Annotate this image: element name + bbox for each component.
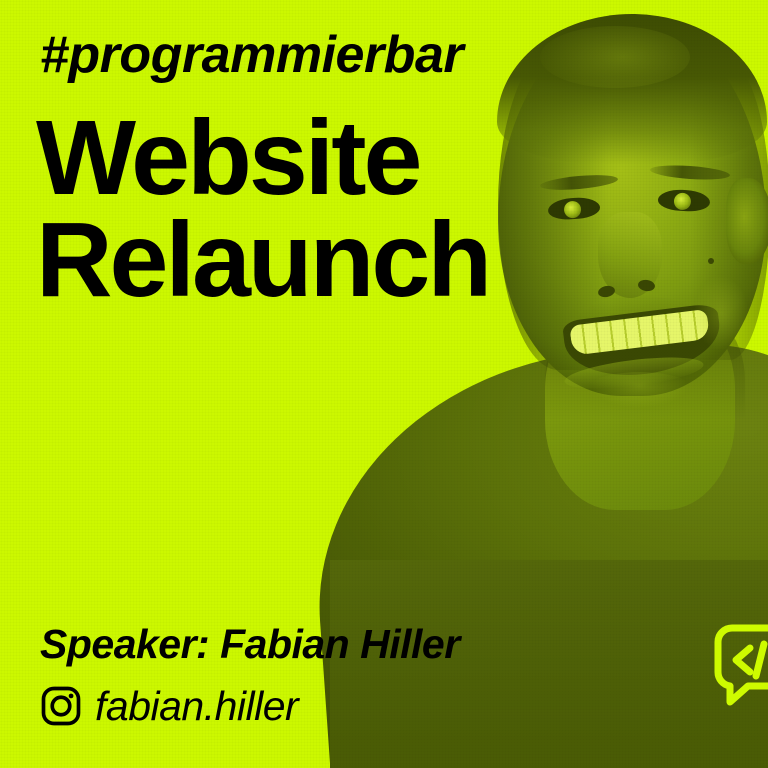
portrait-mouth xyxy=(562,303,724,384)
portrait-neck xyxy=(545,300,735,510)
programmierbar-code-bubble-logo xyxy=(712,620,768,706)
portrait-ear xyxy=(726,178,768,264)
portrait-teeth xyxy=(569,309,710,356)
page-title: Website Relaunch xyxy=(36,108,489,312)
portrait-stubble xyxy=(552,296,732,412)
speaker-block: Speaker: Fabian Hiller fabian.hiller xyxy=(40,620,460,727)
portrait-nostril-right xyxy=(637,279,655,292)
instagram-handle: fabian.hiller xyxy=(95,686,298,727)
portrait-nose xyxy=(598,212,662,298)
portrait-iris-right xyxy=(674,192,692,210)
portrait-lower-lip xyxy=(563,352,705,395)
portrait-head-shadow-left xyxy=(498,40,608,370)
instagram-handle-row[interactable]: fabian.hiller xyxy=(40,685,460,727)
portrait-head xyxy=(498,18,766,396)
portrait-neck-shadow xyxy=(545,300,745,420)
portrait-hair xyxy=(497,14,767,164)
portrait-eye-right xyxy=(657,189,710,213)
portrait-eyebrow-left xyxy=(540,173,619,193)
podcast-promo-card: #programmierbar Website Relaunch Speaker… xyxy=(0,0,768,768)
portrait-head-shadow-right xyxy=(690,60,768,360)
speaker-name: Speaker: Fabian Hiller xyxy=(40,620,460,669)
instagram-icon xyxy=(40,685,82,727)
portrait-eyebrow-right xyxy=(650,163,731,182)
portrait-hair-highlight xyxy=(540,26,690,88)
title-line-1: Website xyxy=(36,108,489,210)
portrait-iris-left xyxy=(564,201,582,219)
portrait-eye-left xyxy=(547,196,600,221)
portrait-nostril-left xyxy=(597,284,616,298)
hashtag-label: #programmierbar xyxy=(40,26,463,86)
portrait-chin xyxy=(580,372,700,418)
title-line-2: Relaunch xyxy=(36,210,489,312)
portrait-cheek xyxy=(688,268,754,358)
portrait-mole xyxy=(708,258,714,264)
